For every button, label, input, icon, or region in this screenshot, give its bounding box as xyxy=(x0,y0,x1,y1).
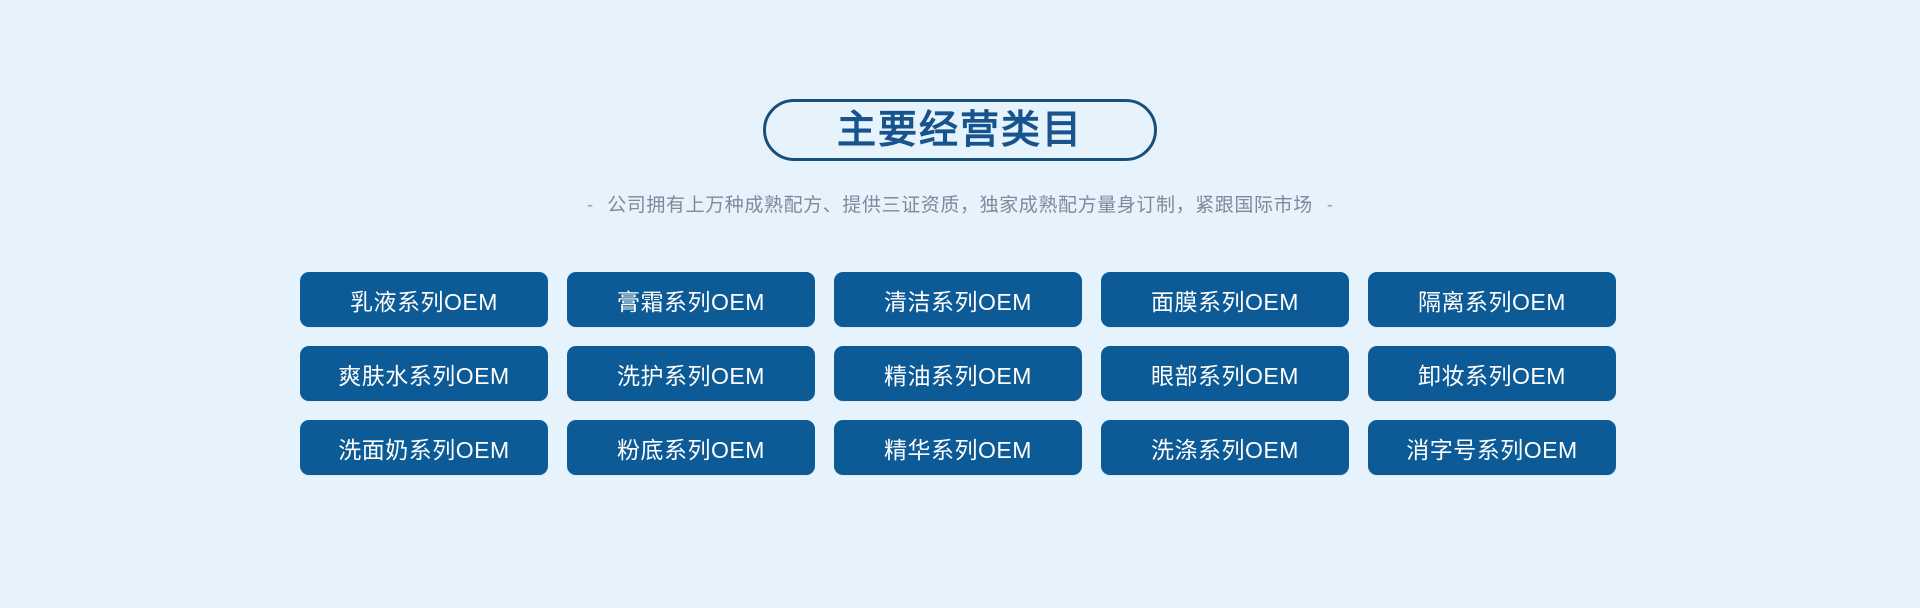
category-button[interactable]: 面膜系列OEM xyxy=(1101,272,1349,327)
category-button-label: 精华系列OEM xyxy=(884,431,1032,465)
category-button-label: 洗涤系列OEM xyxy=(1151,431,1299,465)
category-button[interactable]: 隔离系列OEM xyxy=(1368,272,1616,327)
category-button[interactable]: 卸妆系列OEM xyxy=(1368,346,1616,401)
category-button[interactable]: 清洁系列OEM xyxy=(834,272,1082,327)
category-button[interactable]: 膏霜系列OEM xyxy=(567,272,815,327)
page-title: 主要经营类目 xyxy=(837,111,1083,150)
category-button[interactable]: 消字号系列OEM xyxy=(1368,420,1616,475)
page-title-container: 主要经营类目 xyxy=(0,99,1920,161)
title-pill-border: 主要经营类目 xyxy=(763,99,1157,161)
category-button-label: 卸妆系列OEM xyxy=(1418,357,1566,391)
subtitle-dash-right: - xyxy=(1313,195,1347,218)
category-button[interactable]: 乳液系列OEM xyxy=(300,272,548,327)
category-button-label: 眼部系列OEM xyxy=(1151,357,1299,391)
category-button[interactable]: 洗护系列OEM xyxy=(567,346,815,401)
category-button-label: 消字号系列OEM xyxy=(1406,431,1577,465)
category-button[interactable]: 眼部系列OEM xyxy=(1101,346,1349,401)
category-row: 乳液系列OEM 膏霜系列OEM 清洁系列OEM 面膜系列OEM 隔离系列OEM xyxy=(300,272,1620,327)
category-row: 爽肤水系列OEM 洗护系列OEM 精油系列OEM 眼部系列OEM 卸妆系列OEM xyxy=(300,346,1620,401)
category-button[interactable]: 洗涤系列OEM xyxy=(1101,420,1349,475)
category-button[interactable]: 精油系列OEM xyxy=(834,346,1082,401)
page-subtitle-container: - 公司拥有上万种成熟配方、提供三证资质，独家成熟配方量身订制，紧跟国际市场 - xyxy=(0,195,1920,218)
category-button-label: 乳液系列OEM xyxy=(350,283,498,317)
category-button-label: 清洁系列OEM xyxy=(884,283,1032,317)
category-button[interactable]: 粉底系列OEM xyxy=(567,420,815,475)
category-button-label: 洗面奶系列OEM xyxy=(338,431,509,465)
category-button[interactable]: 洗面奶系列OEM xyxy=(300,420,548,475)
category-button-label: 洗护系列OEM xyxy=(617,357,765,391)
category-button-label: 粉底系列OEM xyxy=(617,431,765,465)
category-button-label: 精油系列OEM xyxy=(884,357,1032,391)
page-subtitle: 公司拥有上万种成熟配方、提供三证资质，独家成熟配方量身订制，紧跟国际市场 xyxy=(607,195,1313,218)
category-button[interactable]: 精华系列OEM xyxy=(834,420,1082,475)
subtitle-dash-left: - xyxy=(573,195,607,218)
category-row: 洗面奶系列OEM 粉底系列OEM 精华系列OEM 洗涤系列OEM 消字号系列OE… xyxy=(300,420,1620,475)
category-button-label: 面膜系列OEM xyxy=(1151,283,1299,317)
category-button-label: 爽肤水系列OEM xyxy=(338,357,509,391)
category-button-label: 膏霜系列OEM xyxy=(617,283,765,317)
category-button[interactable]: 爽肤水系列OEM xyxy=(300,346,548,401)
page-root: 主要经营类目 - 公司拥有上万种成熟配方、提供三证资质，独家成熟配方量身订制，紧… xyxy=(0,0,1920,608)
category-button-label: 隔离系列OEM xyxy=(1418,283,1566,317)
category-grid: 乳液系列OEM 膏霜系列OEM 清洁系列OEM 面膜系列OEM 隔离系列OEM … xyxy=(300,272,1620,475)
